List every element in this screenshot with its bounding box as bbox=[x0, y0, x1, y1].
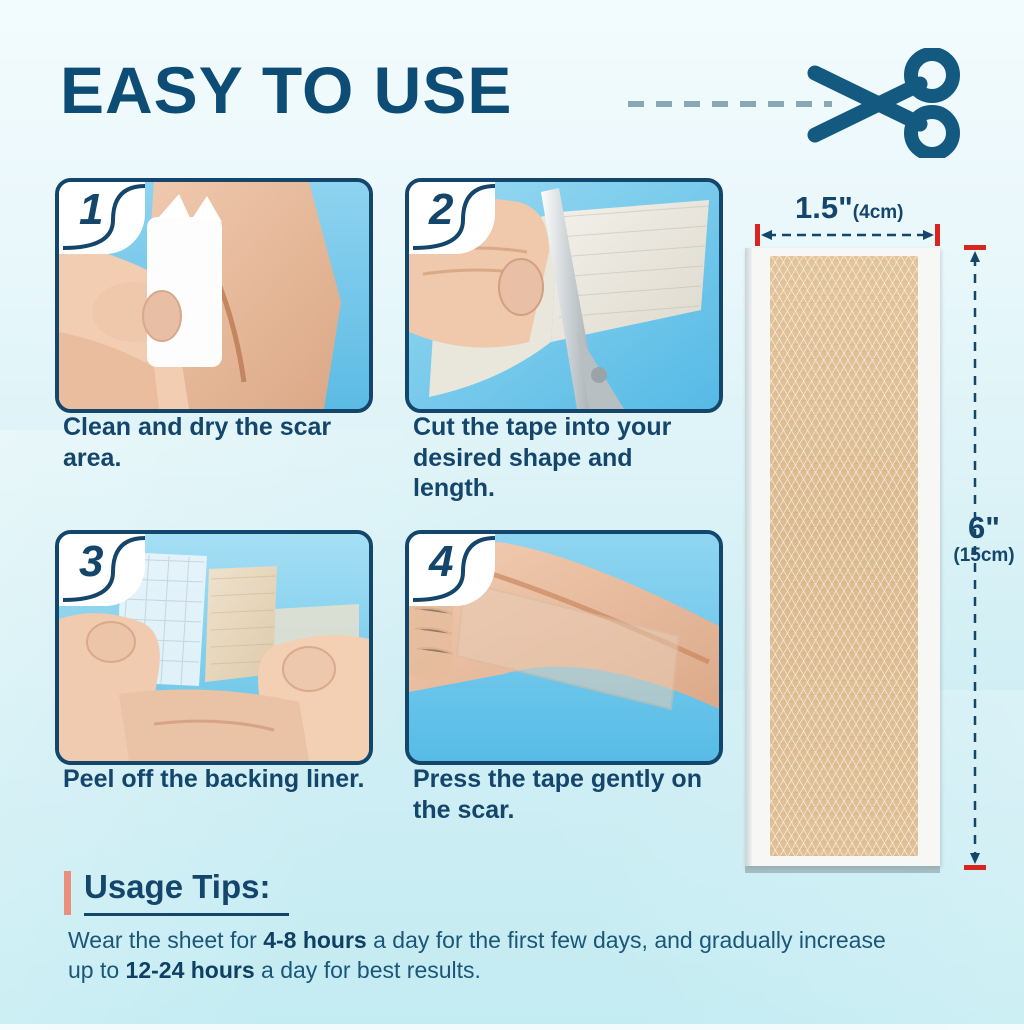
step-card-2: 2 bbox=[405, 178, 723, 413]
height-tick-top bbox=[964, 245, 986, 250]
usage-tips-heading: Usage Tips: bbox=[84, 868, 270, 906]
step-2-badge: 2 bbox=[409, 182, 495, 254]
usage-tips-body: Wear the sheet for 4-8 hours a day for t… bbox=[68, 925, 898, 986]
tips-bold-2: 12-24 hours bbox=[126, 957, 255, 983]
step-2-caption: Cut the tape into your desired shape and… bbox=[413, 412, 713, 504]
tips-text-3: a day for best results. bbox=[255, 957, 481, 983]
tips-bold-1: 4-8 hours bbox=[263, 927, 367, 953]
step-4-badge: 4 bbox=[409, 534, 495, 606]
product-silicone-surface bbox=[770, 256, 918, 856]
page-title: EASY TO USE bbox=[60, 57, 512, 123]
scissors-handle-top bbox=[911, 54, 953, 96]
usage-tips-underline bbox=[84, 913, 289, 916]
product-width-dimension-line bbox=[755, 222, 940, 248]
step-3-caption: Peel off the backing liner. bbox=[63, 764, 383, 795]
product-width-inches: 1.5" bbox=[795, 190, 853, 225]
step-3-badge: 3 bbox=[59, 534, 145, 606]
step-card-3: 3 bbox=[55, 530, 373, 765]
step-card-4: 4 bbox=[405, 530, 723, 765]
usage-tips-accent-bar bbox=[64, 871, 71, 915]
step-card-1: 1 bbox=[55, 178, 373, 413]
step-1-badge: 1 bbox=[59, 182, 145, 254]
step-1-number: 1 bbox=[79, 188, 103, 232]
step-4-caption: Press the tape gently on the scar. bbox=[413, 764, 713, 825]
product-scar-sheet bbox=[745, 248, 940, 866]
step-2-number: 2 bbox=[429, 188, 453, 232]
product-left-edge bbox=[745, 248, 752, 866]
product-width-label: 1.5"(4cm) bbox=[795, 190, 903, 226]
scissors-handle-bottom bbox=[911, 112, 953, 154]
tips-text-1: Wear the sheet for bbox=[68, 927, 263, 953]
product-shadow bbox=[745, 866, 940, 873]
product-height-dimension-line bbox=[962, 245, 988, 870]
step-4-number: 4 bbox=[429, 540, 453, 584]
step-3-number: 3 bbox=[79, 540, 103, 584]
height-tick-bottom bbox=[964, 865, 986, 870]
scissors-cut-graphic bbox=[620, 48, 960, 158]
infographic-root: EASY TO USE bbox=[0, 0, 1024, 1024]
scissors-icon bbox=[620, 48, 960, 158]
width-tick-left bbox=[755, 224, 760, 246]
width-tick-right bbox=[935, 224, 940, 246]
product-width-metric: (4cm) bbox=[853, 202, 904, 223]
step-1-caption: Clean and dry the scar area. bbox=[63, 412, 363, 473]
